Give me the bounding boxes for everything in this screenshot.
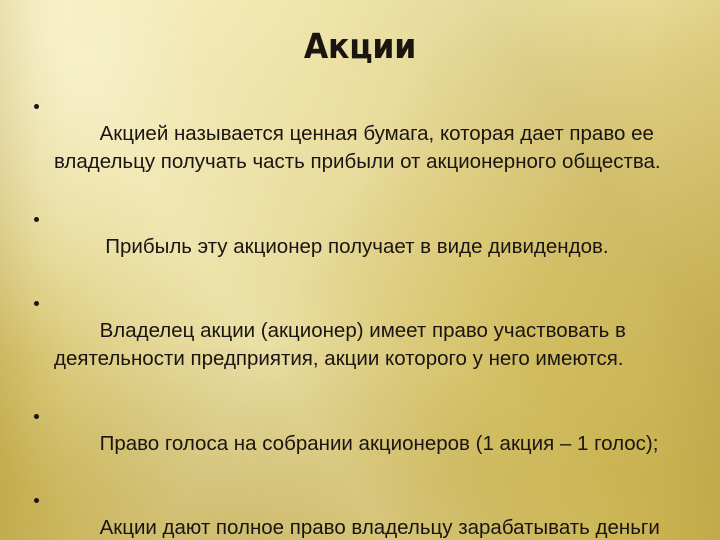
bullet-text: Право голоса на собрании акционеров (1 а… — [100, 432, 659, 455]
slide-title: Акции — [0, 28, 720, 67]
bullet-text: Прибыль эту акционер получает в виде див… — [100, 235, 609, 258]
list-item: Владелец акции (акционер) имеет право уч… — [28, 289, 680, 401]
bullet-list: Акцией называется ценная бумага, которая… — [28, 92, 680, 540]
list-item: Акцией называется ценная бумага, которая… — [28, 92, 680, 204]
presentation-slide: Акции Акцией называется ценная бумага, к… — [0, 0, 720, 540]
list-item: Акции дают полное право владельцу зараба… — [28, 486, 680, 540]
bullet-text: Акцией называется ценная бумага, которая… — [54, 122, 661, 173]
slide-content: Акции Акцией называется ценная бумага, к… — [0, 0, 720, 540]
list-item: Право голоса на собрании акционеров (1 а… — [28, 402, 680, 486]
list-item: Прибыль эту акционер получает в виде див… — [28, 205, 680, 289]
bullet-text: Владелец акции (акционер) имеет право уч… — [54, 319, 632, 370]
bullet-text: Акции дают полное право владельцу зараба… — [54, 516, 666, 540]
